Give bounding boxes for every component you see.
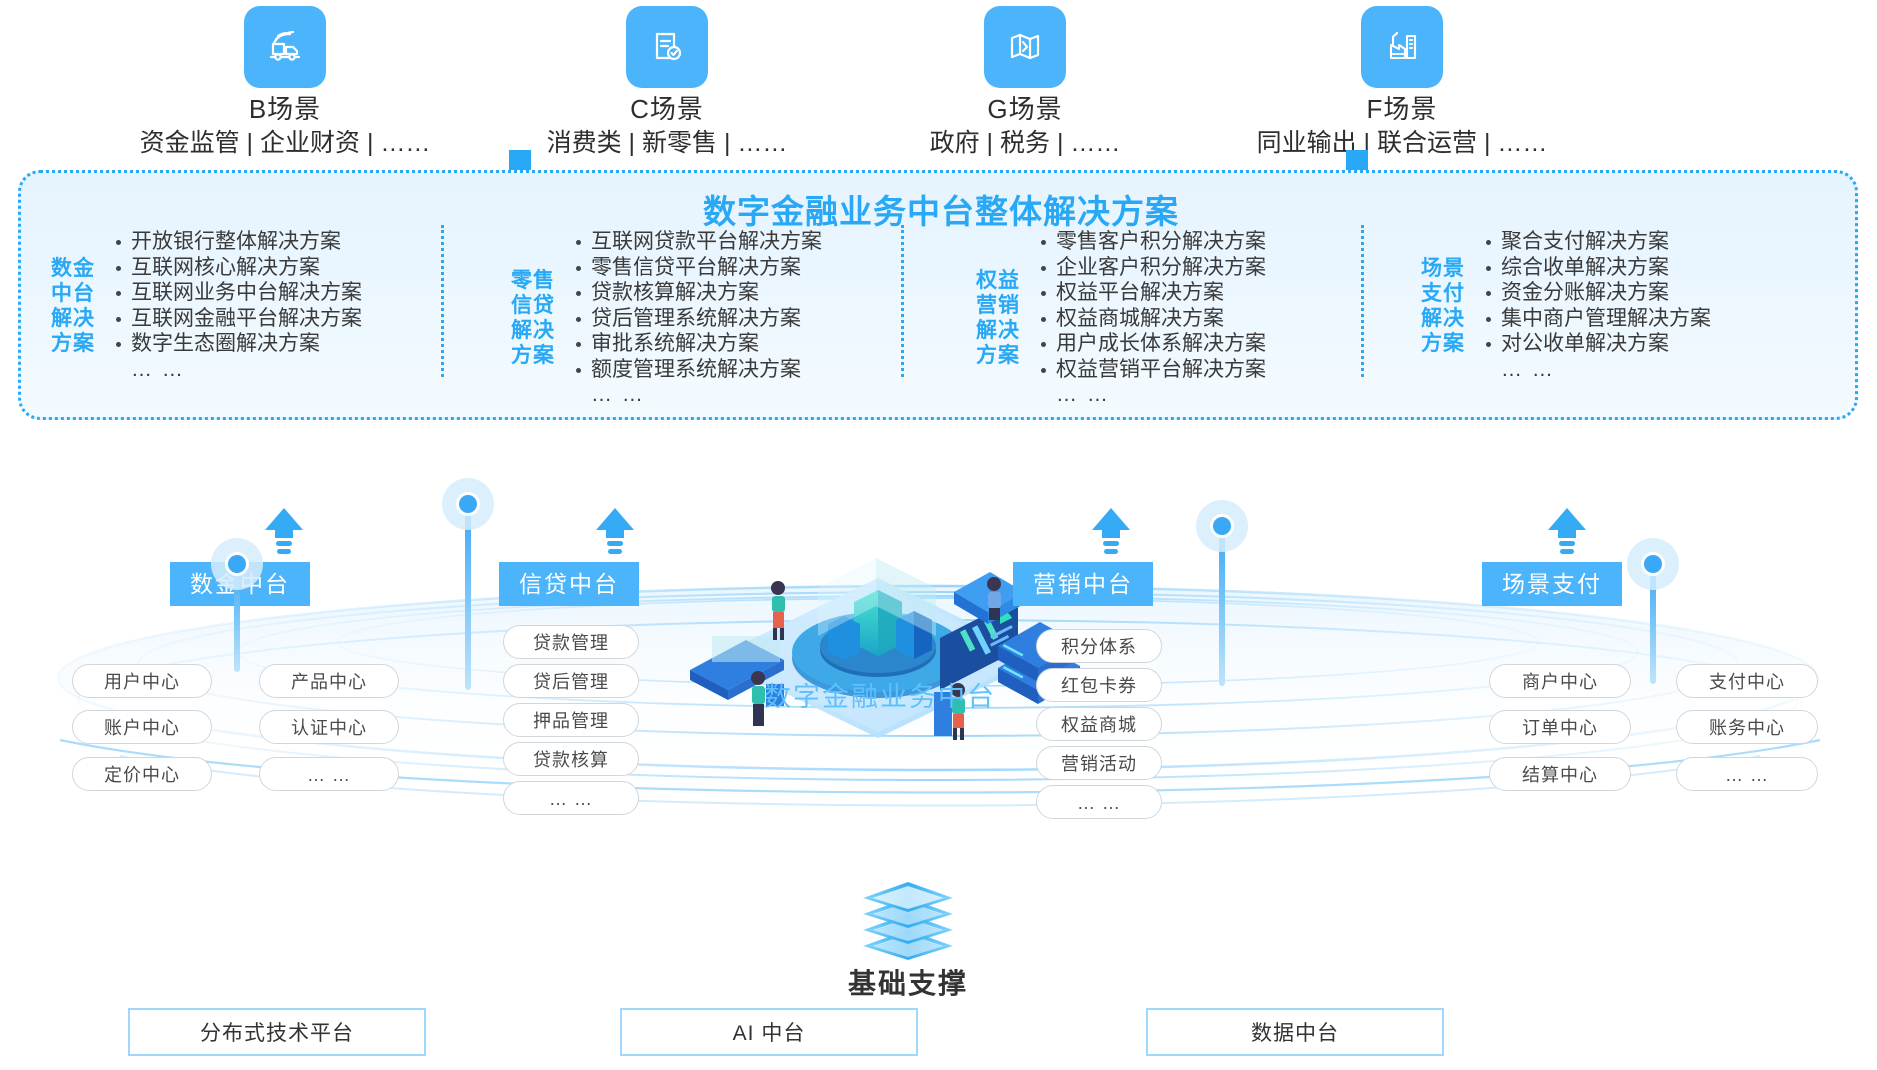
solution-item: 零售客户积分解决方案 — [1038, 229, 1266, 255]
platform-label-yingxiao[interactable]: 营销中台 — [1013, 562, 1153, 606]
scenario-subtitle: 资金监管 | 企业财资 | …… — [95, 126, 475, 160]
map-fold-icon — [984, 6, 1066, 88]
cat-line: 解决 — [511, 318, 573, 343]
column-divider-1 — [441, 225, 444, 377]
solution-ellipsis: … … — [573, 382, 822, 408]
up-arrow-1 — [595, 508, 635, 560]
cat-line: 解决 — [51, 306, 113, 331]
cat-line: 方案 — [51, 331, 113, 356]
layered-stack-icon — [848, 880, 968, 960]
solution-panel: 数字金融业务中台整体解决方案 数金 中台 解决 方案 开放银行整体解决方案 互联… — [18, 170, 1858, 420]
cat-line: 解决 — [1421, 306, 1483, 331]
pill-accounting-center[interactable]: 账务中心 — [1676, 710, 1818, 744]
column-divider-3 — [1361, 225, 1364, 377]
solution-ellipsis: … … — [1483, 357, 1711, 383]
bottom-box-data[interactable]: 数据中台 — [1146, 1008, 1444, 1056]
solution-category-2: 权益 营销 解决 方案 — [976, 268, 1038, 368]
solution-list-0: 开放银行整体解决方案 互联网核心解决方案 互联网业务中台解决方案 互联网金融平台… — [113, 229, 362, 357]
pill-more-3[interactable]: … … — [1676, 757, 1818, 791]
solution-item: 互联网金融平台解决方案 — [113, 306, 362, 332]
pill-merchant-center[interactable]: 商户中心 — [1489, 664, 1631, 698]
cat-line: 方案 — [976, 343, 1038, 368]
scenario-subtitle: 政府 | 税务 | …… — [835, 126, 1215, 160]
solution-item: 贷后管理系统解决方案 — [573, 306, 822, 332]
solution-item: 权益平台解决方案 — [1038, 280, 1266, 306]
solution-list-2: 零售客户积分解决方案 企业客户积分解决方案 权益平台解决方案 权益商城解决方案 … — [1038, 229, 1266, 382]
pill-product-center[interactable]: 产品中心 — [259, 664, 399, 698]
pill-pricing-center[interactable]: 定价中心 — [72, 757, 212, 791]
platform-pin-0 — [211, 538, 263, 668]
pill-loan-mgmt[interactable]: 贷款管理 — [503, 625, 639, 659]
pill-auth-center[interactable]: 认证中心 — [259, 710, 399, 744]
solution-category-3: 场景 支付 解决 方案 — [1421, 256, 1483, 356]
panel-title: 数字金融业务中台整体解决方案 — [21, 185, 1861, 233]
solution-column-1: 零售 信贷 解决 方案 互联网贷款平台解决方案 零售信贷平台解决方案 贷款核算解… — [511, 229, 822, 408]
scenario-card-0[interactable]: B场景 资金监管 | 企业财资 | …… — [95, 6, 475, 160]
cat-line: 营销 — [976, 293, 1038, 318]
cat-line: 权益 — [976, 268, 1038, 293]
solution-item: 审批系统解决方案 — [573, 331, 822, 357]
pill-rights-mall[interactable]: 权益商城 — [1036, 707, 1162, 741]
pill-order-center[interactable]: 订单中心 — [1489, 710, 1631, 744]
solution-category-1: 零售 信贷 解决 方案 — [511, 268, 573, 368]
solution-item: 用户成长体系解决方案 — [1038, 331, 1266, 357]
pill-collateral-mgmt[interactable]: 押品管理 — [503, 703, 639, 737]
up-arrow-2 — [1091, 508, 1131, 560]
cat-line: 方案 — [1421, 331, 1483, 356]
solution-item: 资金分账解决方案 — [1483, 280, 1711, 306]
cat-line: 场景 — [1421, 256, 1483, 281]
scenario-title: F场景 — [1212, 92, 1592, 126]
scenario-card-3[interactable]: F场景 同业输出 | 联合运营 | …… — [1212, 6, 1592, 160]
platform-label-xindai[interactable]: 信贷中台 — [499, 562, 639, 606]
solution-item: 互联网业务中台解决方案 — [113, 280, 362, 306]
person-4 — [987, 577, 1001, 620]
solution-item: 综合收单解决方案 — [1483, 255, 1711, 281]
pill-more-0[interactable]: … … — [259, 757, 399, 791]
solution-ellipsis: … … — [113, 357, 362, 383]
solution-item: 数字生态圈解决方案 — [113, 331, 362, 357]
solution-item: 聚合支付解决方案 — [1483, 229, 1711, 255]
solution-column-3: 场景 支付 解决 方案 聚合支付解决方案 综合收单解决方案 资金分账解决方案 集… — [1421, 229, 1711, 382]
solution-category-0: 数金 中台 解决 方案 — [51, 256, 113, 356]
solution-item: 互联网核心解决方案 — [113, 255, 362, 281]
scenario-title: B场景 — [95, 92, 475, 126]
solution-item: 对公收单解决方案 — [1483, 331, 1711, 357]
solution-item: 额度管理系统解决方案 — [573, 357, 822, 383]
scenario-row: B场景 资金监管 | 企业财资 | …… C场景 消费类 | 新零售 | …… … — [0, 6, 1877, 166]
solution-item: 权益营销平台解决方案 — [1038, 357, 1266, 383]
factory-icon — [1361, 6, 1443, 88]
truck-cargo-icon — [244, 6, 326, 88]
pill-loan-accounting[interactable]: 贷款核算 — [503, 742, 639, 776]
pill-points-system[interactable]: 积分体系 — [1036, 629, 1162, 663]
solution-list-3: 聚合支付解决方案 综合收单解决方案 资金分账解决方案 集中商户管理解决方案 对公… — [1483, 229, 1711, 357]
cat-line: 方案 — [511, 343, 573, 368]
scenario-subtitle: 同业输出 | 联合运营 | …… — [1212, 126, 1592, 160]
solution-item: 权益商城解决方案 — [1038, 306, 1266, 332]
solution-item: 开放银行整体解决方案 — [113, 229, 362, 255]
pill-post-loan-mgmt[interactable]: 贷后管理 — [503, 664, 639, 698]
cat-line: 解决 — [976, 318, 1038, 343]
up-arrow-3 — [1547, 508, 1587, 560]
document-check-icon — [626, 6, 708, 88]
platform-label-changjing[interactable]: 场景支付 — [1482, 562, 1622, 606]
pill-user-center[interactable]: 用户中心 — [72, 664, 212, 698]
cat-line: 数金 — [51, 256, 113, 281]
solution-item: 零售信贷平台解决方案 — [573, 255, 822, 281]
solution-ellipsis: … … — [1038, 382, 1266, 408]
scenario-card-2[interactable]: G场景 政府 | 税务 | …… — [835, 6, 1215, 160]
cat-line: 中台 — [51, 281, 113, 306]
pill-more-2[interactable]: … … — [1036, 785, 1162, 819]
pill-coupon[interactable]: 红包卡券 — [1036, 668, 1162, 702]
scenario-title: G场景 — [835, 92, 1215, 126]
bottom-box-distributed[interactable]: 分布式技术平台 — [128, 1008, 426, 1056]
solution-item: 企业客户积分解决方案 — [1038, 255, 1266, 281]
platform-pin-2 — [1196, 500, 1248, 680]
solution-item: 互联网贷款平台解决方案 — [573, 229, 822, 255]
pill-marketing-campaign[interactable]: 营销活动 — [1036, 746, 1162, 780]
solution-item: 贷款核算解决方案 — [573, 280, 822, 306]
solution-column-2: 权益 营销 解决 方案 零售客户积分解决方案 企业客户积分解决方案 权益平台解决… — [976, 229, 1266, 408]
solution-item: 集中商户管理解决方案 — [1483, 306, 1711, 332]
pill-settlement-center[interactable]: 结算中心 — [1489, 757, 1631, 791]
scenario-title: C场景 — [477, 92, 857, 126]
cat-line: 信贷 — [511, 293, 573, 318]
column-divider-2 — [901, 225, 904, 377]
pill-account-center[interactable]: 账户中心 — [72, 710, 212, 744]
cat-line: 支付 — [1421, 281, 1483, 306]
platform-pin-3 — [1627, 538, 1679, 678]
bottom-box-ai[interactable]: AI 中台 — [620, 1008, 918, 1056]
pill-payment-center[interactable]: 支付中心 — [1676, 664, 1818, 698]
solution-list-1: 互联网贷款平台解决方案 零售信贷平台解决方案 贷款核算解决方案 贷后管理系统解决… — [573, 229, 822, 382]
scenario-card-1[interactable]: C场景 消费类 | 新零售 | …… — [477, 6, 857, 160]
platform-pin-1 — [442, 478, 494, 678]
base-support-label: 基础支撑 — [678, 962, 1138, 1002]
up-arrow-0 — [264, 508, 304, 560]
cat-line: 零售 — [511, 268, 573, 293]
solution-column-0: 数金 中台 解决 方案 开放银行整体解决方案 互联网核心解决方案 互联网业务中台… — [51, 229, 362, 382]
pill-more-1[interactable]: … … — [503, 781, 639, 815]
